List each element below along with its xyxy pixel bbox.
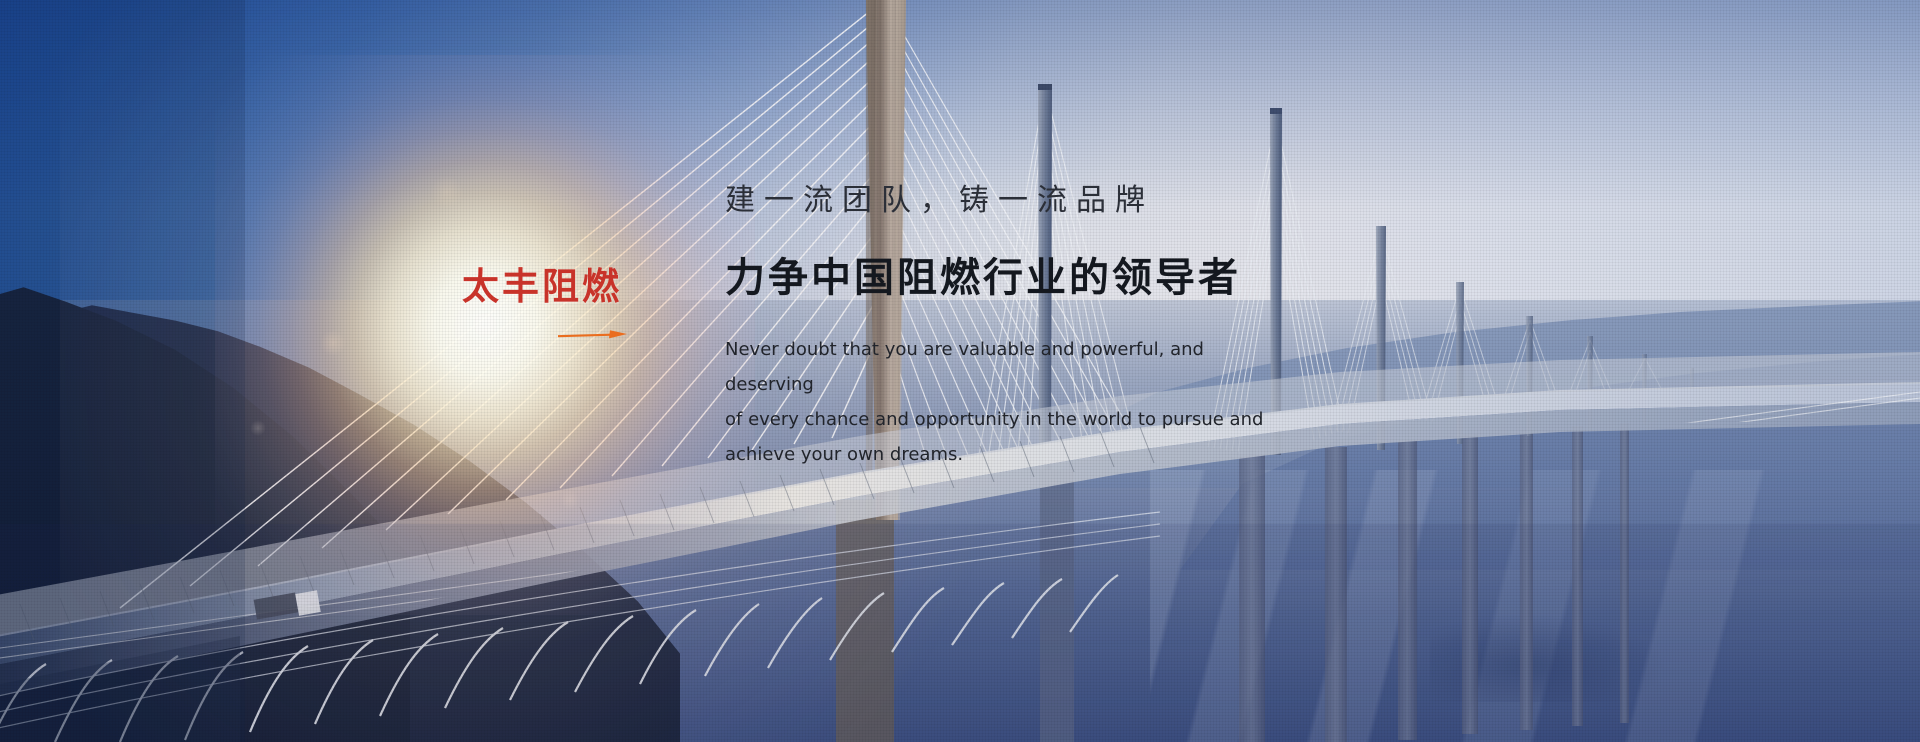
description-line-3: achieve your own dreams. — [725, 437, 1285, 472]
description-paragraph: Never doubt that you are valuable and po… — [725, 332, 1285, 472]
banner-content: 太丰阻燃 建一流团队，铸一流品牌 力争中国阻燃行业的领导者 Never doub… — [0, 0, 1920, 742]
description-line-1: Never doubt that you are valuable and po… — [725, 332, 1285, 402]
brand-logo-text: 太丰阻燃 — [462, 268, 662, 305]
brand-logo[interactable]: 太丰阻燃 — [462, 268, 662, 305]
arrow-right-icon — [558, 328, 630, 342]
main-headline: 力争中国阻燃行业的领导者 — [725, 254, 1445, 302]
sub-headline: 建一流团队，铸一流品牌 — [725, 182, 1445, 220]
hero-banner: 太丰阻燃 建一流团队，铸一流品牌 力争中国阻燃行业的领导者 Never doub… — [0, 0, 1920, 742]
description-line-2: of every chance and opportunity in the w… — [725, 402, 1285, 437]
headline-block: 建一流团队，铸一流品牌 力争中国阻燃行业的领导者 Never doubt tha… — [725, 182, 1445, 472]
